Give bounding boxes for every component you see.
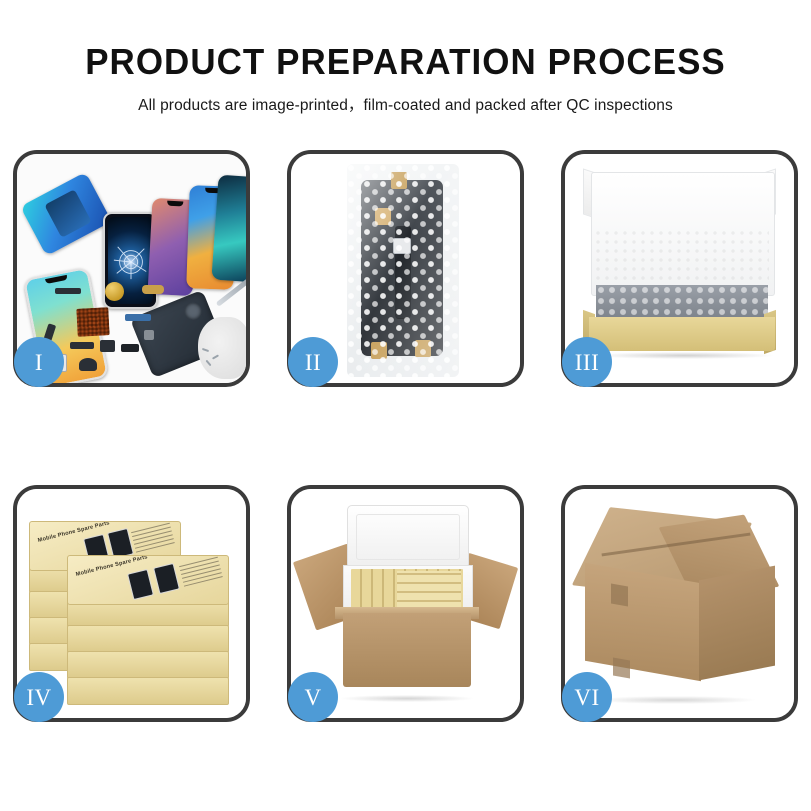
process-step-6: VI	[561, 485, 798, 722]
step-badge-1: I	[14, 337, 64, 387]
crack-icon	[112, 243, 150, 281]
process-step-4: Mobile Phone Spare Parts Mobile Phone Sp…	[13, 485, 250, 722]
process-step-5: V	[287, 485, 524, 722]
gold-boxes-inside	[397, 571, 461, 609]
process-step-1: I	[13, 150, 250, 387]
process-step-2: II	[287, 150, 524, 387]
bubble-wrapped-contents	[596, 285, 768, 319]
stacked-box	[67, 677, 229, 705]
small-part	[100, 340, 115, 352]
box-stack: Mobile Phone Spare Parts Mobile Phone Sp…	[27, 507, 245, 707]
phone-screen-blue-film	[20, 172, 112, 256]
notch-icon	[45, 275, 68, 284]
stacked-box	[67, 651, 229, 679]
phone-teal-gradient	[211, 175, 246, 283]
process-step-grid: I II	[13, 150, 798, 722]
box-artwork-screen	[153, 563, 180, 594]
small-part	[55, 288, 81, 294]
step-badge-3: III	[562, 337, 612, 387]
stacked-box	[67, 625, 229, 653]
stacked-box-top-front: Mobile Phone Spare Parts	[67, 555, 229, 605]
page-subtitle: All products are image-printed，film-coat…	[0, 93, 811, 115]
gold-box-front	[589, 317, 775, 351]
process-step-3: III	[561, 150, 798, 387]
carton-face-left	[585, 563, 701, 681]
gold-coin-part	[105, 282, 124, 301]
page-title: PRODUCT PREPARATION PROCESS	[12, 44, 799, 80]
small-part	[142, 285, 164, 294]
product-preparation-infographic: PRODUCT PREPARATION PROCESS All products…	[0, 0, 811, 811]
bubble-wrap-bag	[347, 164, 459, 377]
box-spec-lines	[179, 557, 225, 596]
carton-front	[343, 613, 471, 687]
step-badge-2: II	[288, 337, 338, 387]
copper-chip-grid	[76, 307, 109, 337]
drop-shadow	[595, 352, 773, 359]
small-part	[121, 344, 139, 352]
drop-shadow	[595, 696, 755, 704]
drop-shadow	[341, 695, 473, 702]
step-badge-6: VI	[562, 672, 612, 722]
small-part	[70, 342, 94, 349]
small-part	[79, 358, 97, 371]
plastic-sheen	[347, 164, 459, 377]
carton-tape-patch	[613, 658, 630, 679]
step-badge-5: V	[288, 672, 338, 722]
flex-cable-part	[125, 314, 151, 321]
header: PRODUCT PREPARATION PROCESS All products…	[0, 0, 811, 115]
carton-tape-patch	[611, 584, 628, 607]
foam-sheet	[595, 230, 769, 284]
notch-icon	[167, 201, 183, 207]
step-badge-4: IV	[14, 672, 64, 722]
small-part	[144, 330, 154, 340]
screws-group	[202, 347, 228, 367]
carton-face-right	[699, 566, 775, 681]
foam-box-lid	[347, 505, 469, 569]
box-artwork-screen	[127, 569, 154, 600]
